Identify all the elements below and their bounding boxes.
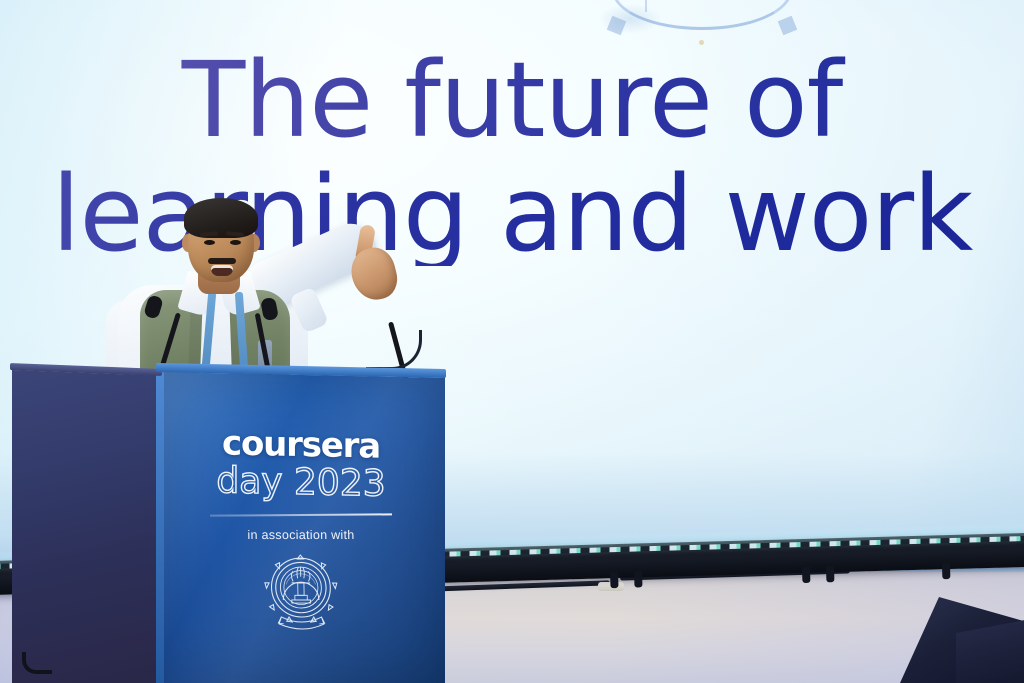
- event-name-outline: day 2023: [170, 462, 432, 503]
- photo-scene: The future of learning and work: [0, 0, 1024, 683]
- podium-side-panel: [12, 370, 164, 683]
- brand-divider: [210, 513, 392, 516]
- podium-corner-edge: [156, 370, 164, 683]
- led-fixture-foot: [610, 572, 618, 588]
- led-fixture-foot: [802, 567, 810, 583]
- eye-right: [230, 240, 241, 245]
- led-fixture-foot: [826, 566, 834, 582]
- association-label: in association with: [170, 528, 432, 542]
- podium: coursera day 2023 in association with: [0, 366, 452, 683]
- headline-line-1: The future of: [0, 48, 1024, 152]
- led-fixture-foot: [634, 571, 642, 587]
- mustache: [208, 258, 236, 264]
- led-fixture-foot: [942, 563, 950, 579]
- podium-cable: [22, 652, 52, 674]
- hair: [184, 198, 258, 238]
- eye-left: [204, 240, 215, 245]
- iit-bombay-emblem-icon: [261, 552, 340, 634]
- podium-branding: coursera day 2023 in association with: [170, 425, 432, 636]
- coursera-wordmark: coursera: [170, 425, 432, 464]
- mouth: [211, 265, 233, 276]
